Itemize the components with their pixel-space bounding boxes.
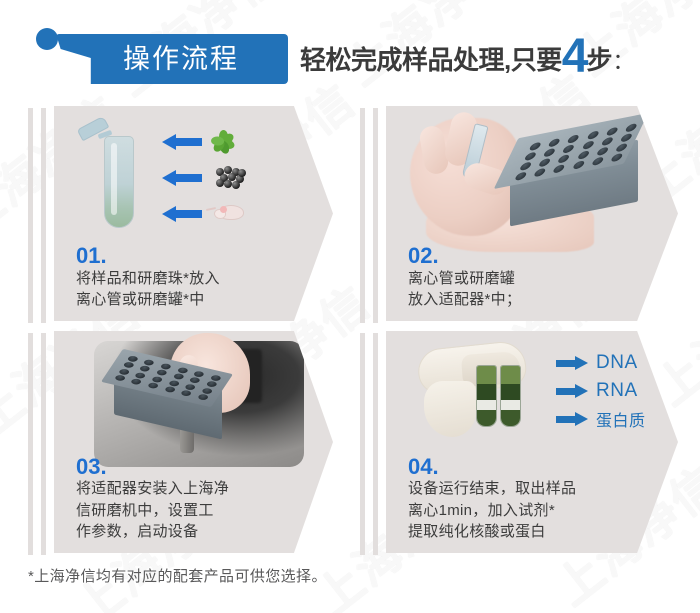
banner-dot-icon	[36, 28, 58, 50]
section-title-label: 操作流程	[91, 35, 271, 83]
card-accent-bar	[41, 333, 46, 555]
step-03-illustration	[54, 331, 333, 469]
sample-vial-icon	[476, 365, 497, 427]
glove-thumb-shape	[424, 381, 476, 437]
sample-row-beads	[162, 164, 312, 192]
leaf-icon	[214, 129, 248, 155]
footer-note: *上海净信均有对应的配套产品可供您选择。	[28, 565, 327, 586]
steps-grid: 01. 将样品和研磨珠*放入 离心管或研磨罐*中	[0, 96, 700, 556]
headline-step-count: 4	[562, 33, 587, 81]
step-04-illustration: DNA RNA 蛋白质	[386, 331, 678, 469]
step-number: 04.	[408, 455, 638, 478]
legend-item-rna: RNA	[556, 377, 676, 405]
sample-row-animal	[162, 200, 312, 228]
step-card-02: 02. 离心管或研磨罐 放入适配器*中；	[360, 106, 678, 321]
card-accent-bar	[28, 108, 33, 323]
step-description: 将适配器安装入上海净 信研磨机中，设置工 作参数，启动设备	[76, 478, 293, 543]
step-number: 01.	[76, 244, 293, 267]
arrow-right-icon	[556, 412, 588, 426]
step-01-caption: 01. 将样品和研磨珠*放入 离心管或研磨罐*中	[76, 244, 293, 311]
step-card-body: 01. 将样品和研磨珠*放入 离心管或研磨罐*中	[54, 106, 333, 321]
legend-label: 蛋白质	[596, 407, 646, 431]
page-header: 操作流程 轻松完成样品处理,只要 4 步 ：	[0, 0, 700, 96]
card-accent-bar	[373, 333, 378, 555]
card-accent-bar	[373, 108, 378, 323]
step-card-04: DNA RNA 蛋白质 04. 设备运行结束，取出样品	[360, 331, 678, 553]
centrifuge-tube-icon	[104, 136, 134, 228]
mouse-icon	[214, 201, 248, 227]
card-accent-bar	[41, 108, 46, 323]
sample-row-plant	[162, 128, 312, 156]
card-accent-bar	[360, 333, 365, 555]
step-01-illustration	[54, 106, 333, 244]
step-description: 将样品和研磨珠*放入 离心管或研磨罐*中	[76, 268, 293, 312]
arrow-left-icon	[162, 206, 202, 222]
card-accent-bar	[28, 333, 33, 555]
step-04-output-legend: DNA RNA 蛋白质	[556, 349, 676, 433]
step-description: 离心管或研磨罐 放入适配器*中；	[408, 268, 638, 312]
arrow-left-icon	[162, 170, 202, 186]
arrow-right-icon	[556, 356, 588, 370]
step-card-body: 03. 将适配器安装入上海净 信研磨机中，设置工 作参数，启动设备	[54, 331, 333, 553]
arrow-left-icon	[162, 134, 202, 150]
step-card-body: 02. 离心管或研磨罐 放入适配器*中；	[386, 106, 678, 321]
grinding-beads-icon	[214, 165, 248, 191]
headline-text-b: 步	[586, 40, 612, 77]
headline: 轻松完成样品处理,只要 4 步 ：	[300, 30, 634, 86]
legend-label: DNA	[596, 352, 638, 374]
sample-vial-icon	[500, 365, 521, 427]
step-description: 设备运行结束，取出样品 离心1min，加入试剂* 提取纯化核酸或蛋白	[408, 478, 638, 543]
step-02-caption: 02. 离心管或研磨罐 放入适配器*中；	[408, 244, 638, 311]
step-card-body: DNA RNA 蛋白质 04. 设备运行结束，取出样品	[386, 331, 678, 553]
legend-item-protein: 蛋白质	[556, 405, 676, 433]
step-02-illustration	[386, 106, 678, 244]
headline-text-a: 轻松完成样品处理,只要	[300, 40, 562, 77]
step-card-03: 03. 将适配器安装入上海净 信研磨机中，设置工 作参数，启动设备	[28, 331, 333, 553]
step-03-caption: 03. 将适配器安装入上海净 信研磨机中，设置工 作参数，启动设备	[76, 455, 293, 543]
card-accent-bar	[360, 108, 365, 323]
step-number: 03.	[76, 455, 293, 478]
legend-item-dna: DNA	[556, 349, 676, 377]
step-card-01: 01. 将样品和研磨珠*放入 离心管或研磨罐*中	[28, 106, 333, 321]
legend-label: RNA	[596, 380, 638, 402]
step-number: 02.	[408, 244, 638, 267]
step-04-caption: 04. 设备运行结束，取出样品 离心1min，加入试剂* 提取纯化核酸或蛋白	[408, 455, 638, 543]
arrow-right-icon	[556, 384, 588, 398]
section-title-banner: 操作流程	[36, 26, 288, 84]
headline-text-c: ：	[612, 44, 634, 76]
